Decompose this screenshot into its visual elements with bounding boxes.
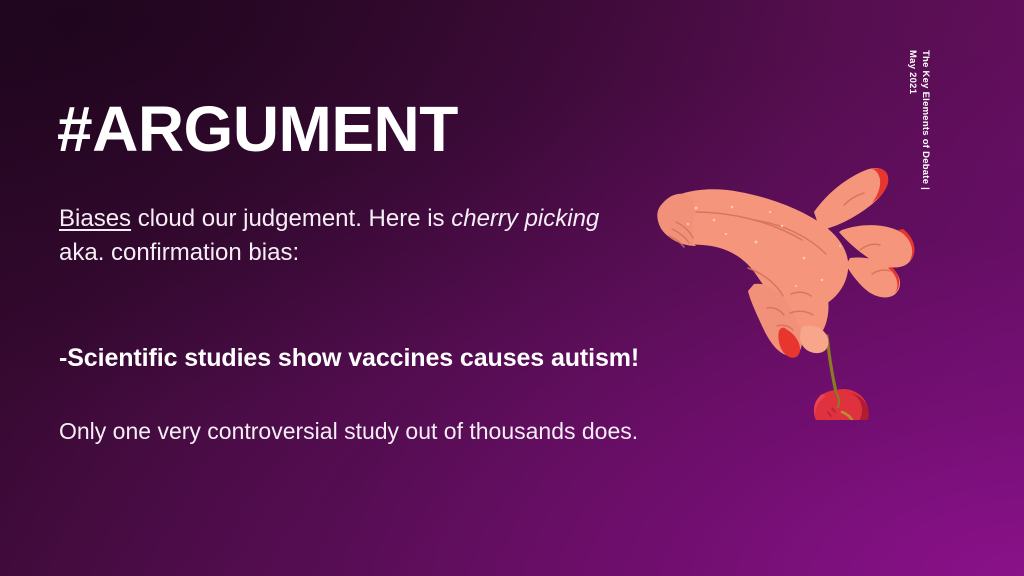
hand-holding-cherry-illustration (636, 150, 936, 420)
illustration-svg (636, 150, 936, 420)
intro-italic-term: cherry picking (451, 205, 599, 232)
cherry-stem (827, 336, 836, 392)
presentation-slide: #ARGUMENT Biases cloud our judgement. He… (0, 0, 1024, 576)
cherry-fruit (814, 389, 869, 420)
wrist (657, 194, 696, 246)
intro-text-part-1: cloud our judgement. Here is (131, 205, 451, 232)
intro-paragraph: Biases cloud our judgement. Here is cher… (59, 202, 619, 270)
claim-statement: -Scientific studies show vaccines causes… (59, 343, 639, 373)
pinch-tip (800, 326, 828, 353)
intro-underlined-term: Biases (59, 205, 131, 232)
page-title: #ARGUMENT (57, 97, 458, 161)
side-caption-date: May 2021 (906, 50, 919, 94)
rebuttal-statement: Only one very controversial study out of… (59, 417, 638, 447)
hand-shape (657, 168, 914, 358)
intro-text-part-2: aka. confirmation bias: (59, 239, 299, 266)
